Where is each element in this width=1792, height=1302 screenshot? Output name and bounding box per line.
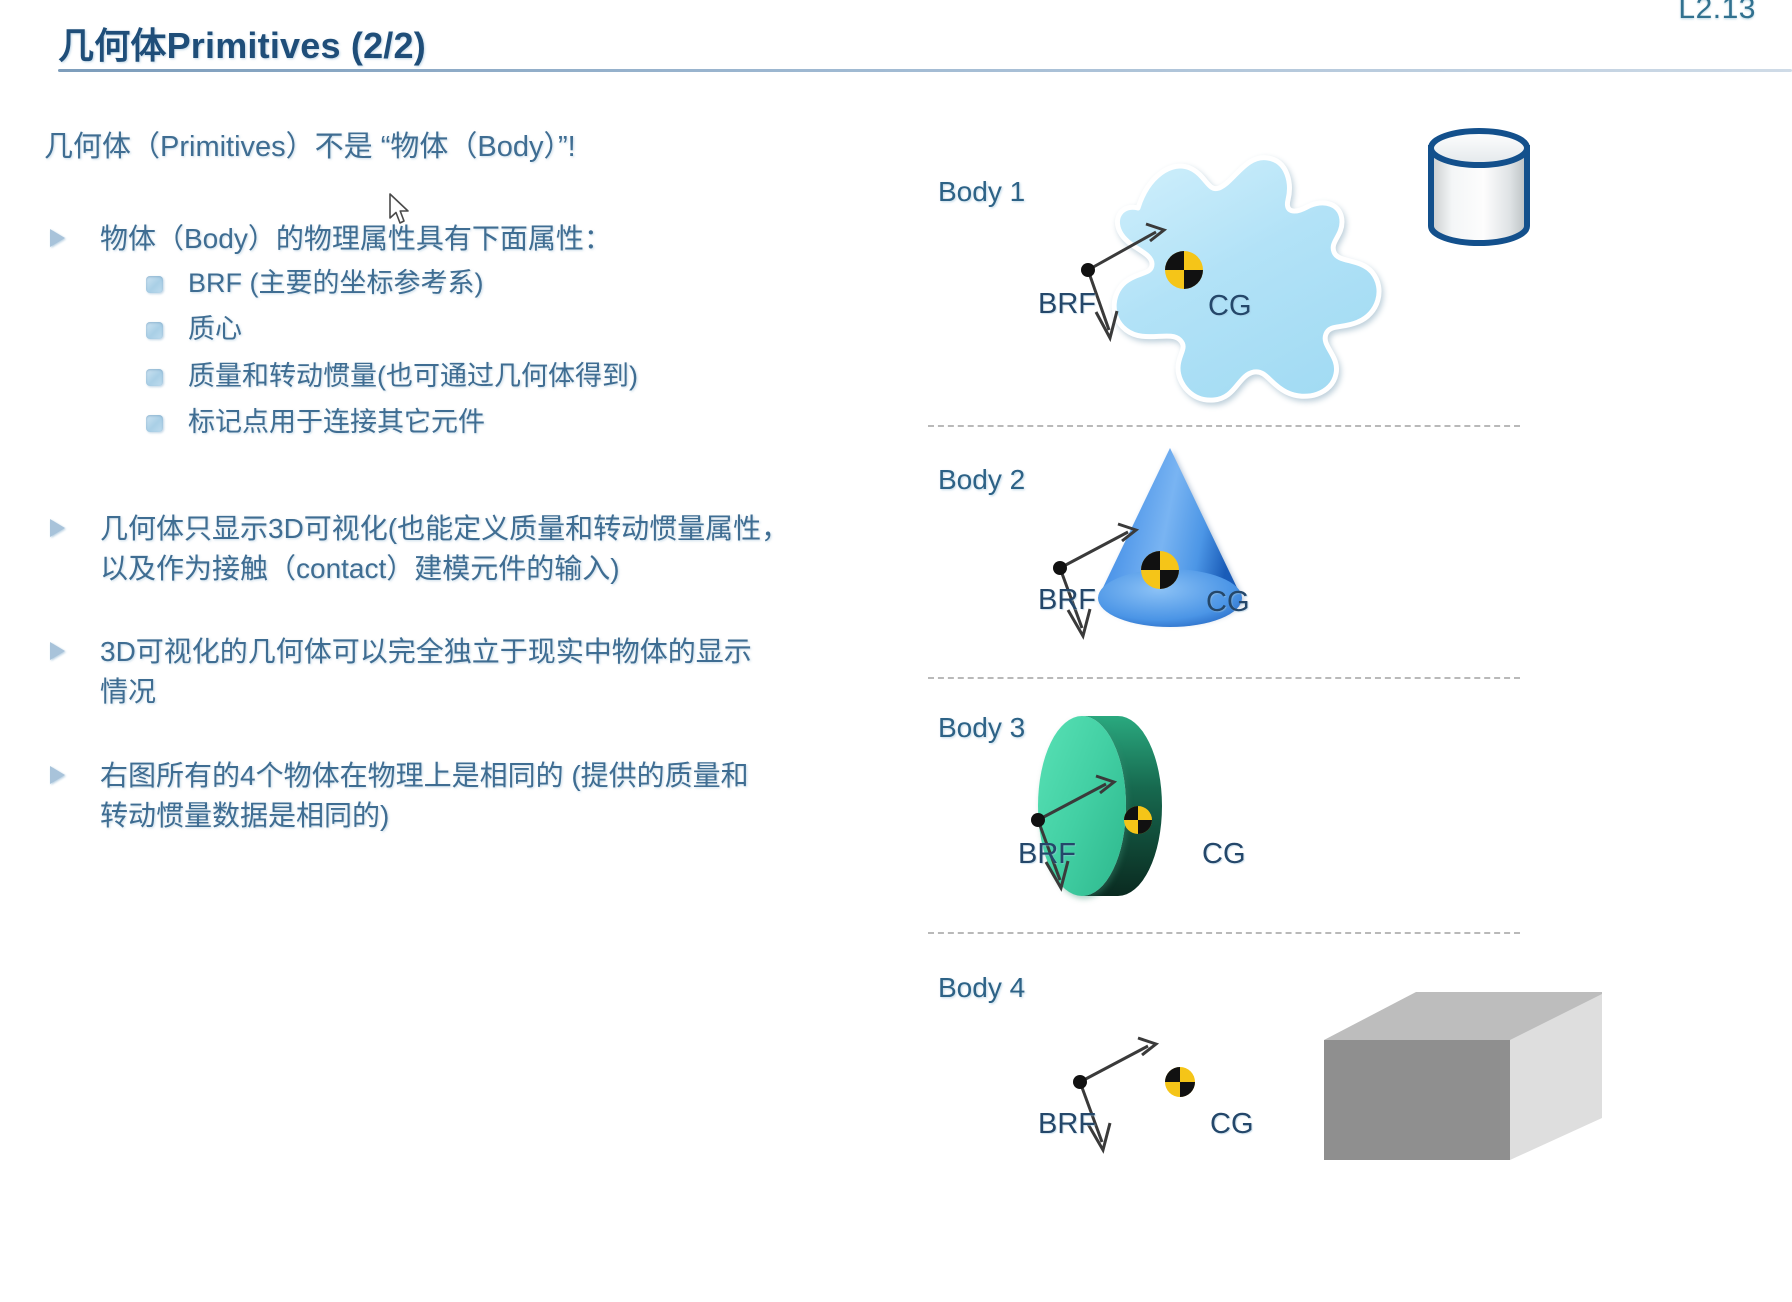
body-row-2: Body 2 — [920, 438, 1792, 688]
cg-label-1: CG — [1208, 290, 1252, 323]
brf-label-3: BRF — [1018, 838, 1076, 871]
brf-origin-dot — [1073, 1075, 1087, 1089]
bullet-item-2: 几何体只显示3D可视化(也能定义质量和转动惯量属性， 以及作为接触（contac… — [44, 509, 874, 589]
sub-bullet-item: 质量和转动惯量(也可通过几何体得到) — [100, 356, 874, 397]
body-row-3: Body 3 — [920, 690, 1792, 940]
brf-label-2: BRF — [1038, 584, 1096, 617]
row-separator — [928, 932, 1520, 934]
box-primitive-shape — [1324, 992, 1602, 1160]
page-code: L2.13 — [1678, 0, 1756, 26]
body-row-4: Body 4 — [920, 946, 1792, 1196]
cone-body-shape — [1020, 448, 1380, 658]
row-separator — [928, 425, 1520, 427]
cg-label-2: CG — [1206, 586, 1250, 619]
body-label-1: Body 1 — [938, 176, 1025, 208]
bullet-text-1: 物体（Body）的物理属性具有下面属性： — [100, 223, 612, 254]
sub-bullet-text: 标记点用于连接其它元件 — [188, 407, 485, 437]
cg-label-3: CG — [1202, 838, 1246, 871]
square-bullet-icon — [146, 322, 163, 339]
body-label-4: Body 4 — [938, 972, 1025, 1004]
blob-body-shape — [1020, 148, 1420, 418]
cg-marker-icon — [1124, 806, 1152, 834]
bullet-item-1: 物体（Body）的物理属性具有下面属性： BRF (主要的坐标参考系) 质心 质… — [44, 219, 874, 443]
sub-bullet-item: 标记点用于连接其它元件 — [100, 402, 874, 443]
spacer — [44, 722, 874, 756]
triangle-bullet-icon — [50, 229, 65, 247]
row-separator — [928, 677, 1520, 679]
cube-body-shape — [1020, 992, 1620, 1192]
brf-origin-dot — [1081, 263, 1095, 277]
triangle-bullet-icon — [50, 519, 65, 537]
body-row-1: Body 1 — [920, 120, 1792, 430]
mouse-cursor-icon — [388, 193, 414, 227]
lead-text: 几何体（Primitives）不是 “物体（Body）”! — [44, 128, 874, 167]
square-bullet-icon — [146, 369, 163, 386]
bullet-text-3: 3D可视化的几何体可以完全独立于现实中物体的显示 情况 — [100, 636, 752, 707]
sub-bullet-item: 质心 — [100, 309, 874, 350]
brf-origin-dot — [1031, 813, 1045, 827]
bullet-item-4: 右图所有的4个物体在物理上是相同的 (提供的质量和 转动惯量数据是相同的) — [44, 756, 874, 836]
brf-label-4: BRF — [1038, 1108, 1096, 1141]
spacer — [44, 453, 874, 509]
bullet-text-4: 右图所有的4个物体在物理上是相同的 (提供的质量和 转动惯量数据是相同的) — [100, 760, 749, 831]
square-bullet-icon — [146, 415, 163, 432]
content-column: 几何体（Primitives）不是 “物体（Body）”! 物体（Body）的物… — [44, 128, 874, 845]
sub-bullet-text: 质心 — [188, 314, 242, 344]
title-divider — [58, 69, 1792, 72]
brf-label-1: BRF — [1038, 288, 1096, 321]
bodies-diagram-panel: Body 1 — [920, 120, 1792, 1300]
disc-body-shape — [1010, 698, 1350, 918]
sub-bullet-item: BRF (主要的坐标参考系) — [100, 263, 874, 304]
body-label-2: Body 2 — [938, 464, 1025, 496]
triangle-bullet-icon — [50, 766, 65, 784]
page-title: 几何体Primitives (2/2) — [58, 17, 426, 69]
bullet-item-3: 3D可视化的几何体可以完全独立于现实中物体的显示 情况 — [44, 632, 874, 712]
cg-label-4: CG — [1210, 1108, 1254, 1141]
spacer — [44, 598, 874, 632]
slide: L2.13 几何体Primitives (2/2) 几何体（Primitives… — [0, 0, 1792, 1302]
sub-bullet-text: BRF (主要的坐标参考系) — [188, 268, 483, 298]
brf-origin-dot — [1053, 561, 1067, 575]
cg-marker-icon — [1165, 251, 1203, 289]
sub-bullet-list-1: BRF (主要的坐标参考系) 质心 质量和转动惯量(也可通过几何体得到) 标记点… — [100, 263, 874, 443]
triangle-bullet-icon — [50, 642, 65, 660]
cg-marker-icon — [1165, 1067, 1195, 1097]
square-bullet-icon — [146, 276, 163, 293]
cg-marker-icon — [1141, 551, 1179, 589]
bullet-text-2: 几何体只显示3D可视化(也能定义质量和转动惯量属性， 以及作为接触（contac… — [100, 513, 789, 584]
sub-bullet-text: 质量和转动惯量(也可通过几何体得到) — [188, 361, 638, 391]
